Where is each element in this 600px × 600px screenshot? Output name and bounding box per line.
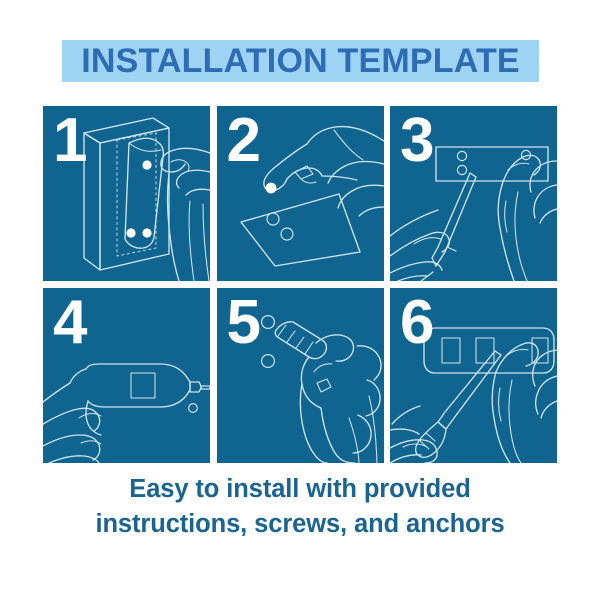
- step-panel-1: 1: [43, 106, 210, 281]
- step-panel-4: 4: [43, 288, 210, 463]
- pencil-marking-wall-through-template-icon: [390, 106, 557, 281]
- hand-inserting-wall-anchor-icon: [217, 288, 384, 463]
- caption-line-1: Easy to install with provided: [0, 472, 600, 507]
- caption: Easy to install with provided instructio…: [0, 472, 600, 542]
- infographic-page: INSTALLATION TEMPLATE 1: [0, 0, 600, 600]
- page-title: INSTALLATION TEMPLATE: [81, 44, 520, 78]
- hand-marking-template-holes-icon: [217, 106, 384, 281]
- step-panel-5: 5: [217, 288, 384, 463]
- power-drill-icon: [43, 288, 210, 463]
- step-panel-6: 6: [390, 288, 557, 463]
- title-banner: INSTALLATION TEMPLATE: [62, 40, 539, 82]
- screwdriver-mounting-bracket-icon: [390, 288, 557, 463]
- caption-line-2: instructions, screws, and anchors: [0, 507, 600, 542]
- step-panel-3: 3: [390, 106, 557, 281]
- box-with-template-sheet-icon: [43, 106, 210, 281]
- step-panel-2: 2: [217, 106, 384, 281]
- steps-grid: 1: [43, 106, 557, 463]
